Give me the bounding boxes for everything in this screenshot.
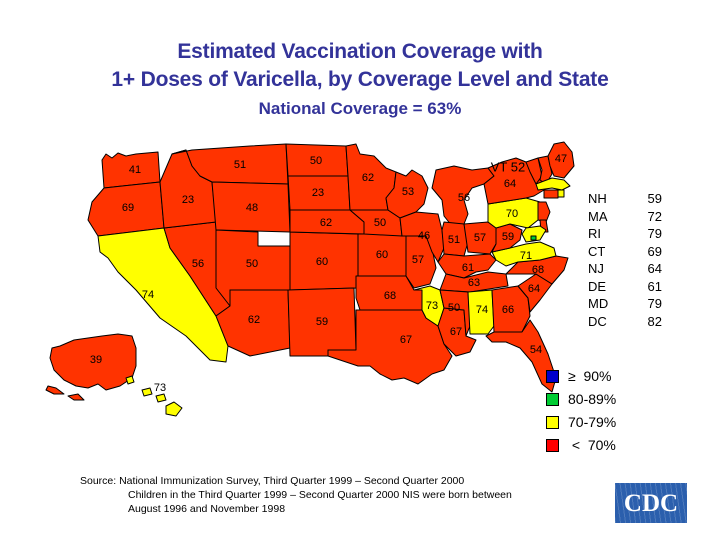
- state-value-LA: 67: [450, 326, 462, 338]
- page-title-line-2: 1+ Doses of Varicella, by Coverage Level…: [0, 66, 720, 94]
- map-state-ND[interactable]: 50: [286, 144, 348, 176]
- legend-label: 70-79%: [568, 414, 616, 430]
- state-list-row: MA 72: [588, 208, 698, 226]
- state-value-AZ: 62: [248, 314, 260, 326]
- legend-lt-70: < 70%: [546, 435, 616, 455]
- state-value-GA: 66: [502, 304, 514, 316]
- slide-canvas: Estimated Vaccination Coverage with 1+ D…: [0, 0, 720, 540]
- page-title-line-1: Estimated Vaccination Coverage with: [0, 38, 720, 66]
- state-value-MO: 57: [412, 254, 424, 266]
- state-value-KY: 61: [462, 262, 474, 274]
- map-state-NM[interactable]: 59: [288, 288, 356, 356]
- map-svg: 41 69 74 56 23 51: [40, 140, 600, 460]
- state-value-NM: 59: [316, 316, 328, 328]
- map-state-WY[interactable]: 48: [212, 182, 290, 232]
- map-state-MI[interactable]: 56: [432, 166, 494, 226]
- state-value: 69: [628, 243, 662, 261]
- legend-label: < 70%: [568, 437, 616, 453]
- legend-80-89: 80-89%: [546, 389, 616, 409]
- legend-ge-90: ≥ 90%: [546, 366, 616, 386]
- state-list-row: NH 59: [588, 190, 698, 208]
- state-value-NY: 64: [504, 178, 516, 190]
- source-line-1: Source: National Immunization Survey, Th…: [80, 474, 580, 488]
- state-abbr: RI: [588, 225, 628, 243]
- map-state-DC[interactable]: [531, 236, 536, 240]
- state-list-row: DC 82: [588, 313, 698, 331]
- state-value-CO: 60: [316, 256, 328, 268]
- state-value-AL: 74: [476, 304, 488, 316]
- state-value-OH: 57: [474, 232, 486, 244]
- state-value-OR: 69: [122, 202, 134, 214]
- state-value-VA: 71: [520, 250, 532, 262]
- map-state-RI[interactable]: [558, 190, 564, 197]
- map-state-NE[interactable]: 62: [290, 210, 364, 234]
- source-line-2: Children in the Third Quarter 1999 – Sec…: [80, 488, 580, 502]
- legend-swatch-yellow: [546, 416, 559, 429]
- state-value-WY: 48: [246, 202, 258, 214]
- state-value-TX: 67: [400, 334, 412, 346]
- state-value-MT: 51: [234, 159, 246, 171]
- state-list-row: NJ 64: [588, 260, 698, 278]
- state-value-AR: 73: [426, 300, 438, 312]
- map-state-OR[interactable]: 69: [88, 182, 164, 236]
- us-choropleth-map: 41 69 74 56 23 51: [40, 140, 600, 460]
- state-value-NV: 56: [192, 258, 204, 270]
- state-value-CA: 74: [142, 289, 154, 301]
- state-abbr: CT: [588, 243, 628, 261]
- state-abbr: MD: [588, 295, 628, 313]
- state-list-row: DE 61: [588, 278, 698, 296]
- state-value: 59: [628, 190, 662, 208]
- state-value-WA: 41: [129, 164, 141, 176]
- state-list-row: CT 69: [588, 243, 698, 261]
- state-value-IA: 50: [374, 217, 386, 229]
- state-value-WI: 53: [402, 186, 414, 198]
- state-value-NE: 62: [320, 217, 332, 229]
- legend-swatch-blue: [546, 370, 559, 383]
- state-label-VT: VT 52: [491, 159, 525, 174]
- state-value: 64: [628, 260, 662, 278]
- state-value-AK: 39: [90, 354, 102, 366]
- state-value: 61: [628, 278, 662, 296]
- legend-label: ≥ 90%: [568, 368, 611, 384]
- state-value-ND: 50: [310, 155, 322, 167]
- map-legend: ≥ 90% 80-89% 70-79% < 70%: [546, 366, 616, 458]
- state-list-row: RI 79: [588, 225, 698, 243]
- state-value-KS: 60: [376, 249, 388, 261]
- state-value-NC: 68: [532, 264, 544, 276]
- page-subtitle: National Coverage = 63%: [0, 97, 720, 121]
- state-value-MS: 50: [448, 302, 460, 314]
- map-state-AK[interactable]: 39: [46, 334, 136, 400]
- state-abbr: DE: [588, 278, 628, 296]
- state-value-IN: 51: [448, 234, 460, 246]
- title-block: Estimated Vaccination Coverage with 1+ D…: [0, 38, 720, 121]
- state-value-IL: 46: [418, 230, 430, 242]
- state-abbr: NH: [588, 190, 628, 208]
- state-value-FL: 54: [530, 344, 542, 356]
- state-value-ME: 47: [555, 153, 567, 165]
- state-value-UT: 50: [246, 258, 258, 270]
- map-state-CT[interactable]: [544, 190, 558, 198]
- legend-70-79: 70-79%: [546, 412, 616, 432]
- cdc-logo: CDC: [615, 483, 687, 523]
- state-value: 79: [628, 225, 662, 243]
- legend-swatch-green: [546, 393, 559, 406]
- map-state-OH[interactable]: 57: [464, 222, 496, 254]
- cdc-logo-text: CDC: [624, 491, 678, 516]
- state-value-WV: 59: [502, 231, 514, 243]
- map-state-SD[interactable]: 23: [288, 176, 350, 210]
- map-state-HI[interactable]: 73: [126, 376, 182, 416]
- state-value-SD: 23: [312, 187, 324, 199]
- state-value-SC: 64: [528, 283, 540, 295]
- legend-label: 80-89%: [568, 391, 616, 407]
- state-value: 72: [628, 208, 662, 226]
- source-line-3: August 1996 and November 1998: [80, 502, 580, 516]
- state-list-row: MD 79: [588, 295, 698, 313]
- state-value-MN: 62: [362, 172, 374, 184]
- map-state-CO[interactable]: 60: [290, 232, 358, 290]
- state-value-HI: 73: [154, 382, 166, 394]
- state-abbr: DC: [588, 313, 628, 331]
- state-value-MI: 56: [458, 192, 470, 204]
- state-abbr: MA: [588, 208, 628, 226]
- map-state-NJ[interactable]: [538, 202, 550, 222]
- state-abbr: NJ: [588, 260, 628, 278]
- state-value-TN: 63: [468, 277, 480, 289]
- state-value: 82: [628, 313, 662, 331]
- state-value: 79: [628, 295, 662, 313]
- state-values-list: NH 59 MA 72 RI 79 CT 69 NJ 64 DE 61 MD 7…: [588, 190, 698, 330]
- state-value-ID: 23: [182, 194, 194, 206]
- state-value-PA: 70: [506, 208, 518, 220]
- map-state-KS[interactable]: 60: [358, 234, 406, 276]
- map-state-AL[interactable]: 74: [468, 290, 494, 334]
- state-value-OK: 68: [384, 290, 396, 302]
- legend-swatch-red: [546, 439, 559, 452]
- source-note: Source: National Immunization Survey, Th…: [80, 474, 580, 516]
